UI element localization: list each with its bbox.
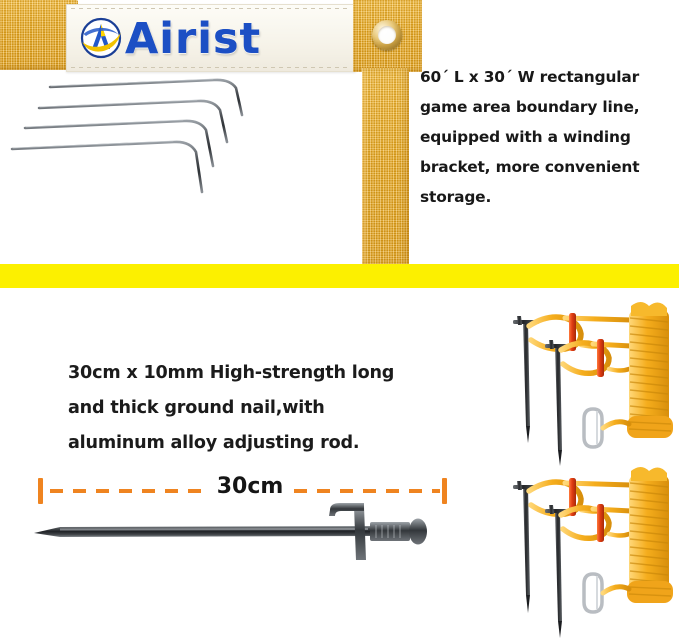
bottom-feature-panel: 30cm x 10mm High-strength long and thick… [0,288,679,639]
stake-b [545,505,571,638]
brand-logo-patch: Airist [66,4,356,72]
desc-bottom-line-1: 30cm x 10mm High-strength long [68,356,468,391]
steel-ground-nail-illustration [30,500,450,570]
ruler-dashes-left [50,489,202,493]
top-feature-panel: Airist [0,0,679,264]
carabiner-icon [584,409,629,447]
brand-wordmark: Airist [125,11,351,67]
vertical-webbing-strap-body [362,68,409,264]
product-feature-image: Airist [0,0,679,639]
coiled-rope-hank [627,302,673,438]
ruler-dashes-right [294,489,440,493]
stake-a [513,316,539,443]
stake-and-rope-assembly-1 [497,298,679,468]
rope-tensioner [597,339,604,377]
rope-tensioner [597,504,604,542]
grommet-hole [378,26,396,44]
bottom-description-text: 30cm x 10mm High-strength long and thick… [68,356,468,462]
desc-bottom-line-2: and thick ground nail,with [68,391,468,426]
desc-top-line-1: 60´ L x 30´ W rectangular [420,62,675,92]
desc-top-line-4: bracket, more convenient [420,152,675,182]
stake-and-rope-assembly-2 [497,463,679,639]
carabiner-icon [584,574,629,612]
yellow-divider-band [0,264,679,288]
dimension-label: 30cm [210,474,290,499]
desc-top-line-5: storage. [420,182,675,212]
metal-grommet-eyelet-icon [372,20,402,50]
desc-top-line-2: game area boundary line, [420,92,675,122]
stake-b [545,340,571,466]
coiled-rope-hank [627,467,673,603]
desc-bottom-line-3: aluminum alloy adjusting rod. [68,426,468,461]
stake-a [513,481,539,613]
top-description-text: 60´ L x 30´ W rectangular game area boun… [420,62,675,212]
globe-swoosh-a-emblem-icon [79,17,123,59]
desc-top-line-3: equipped with a winding [420,122,675,152]
steel-hook-stakes-illustration [6,70,356,250]
